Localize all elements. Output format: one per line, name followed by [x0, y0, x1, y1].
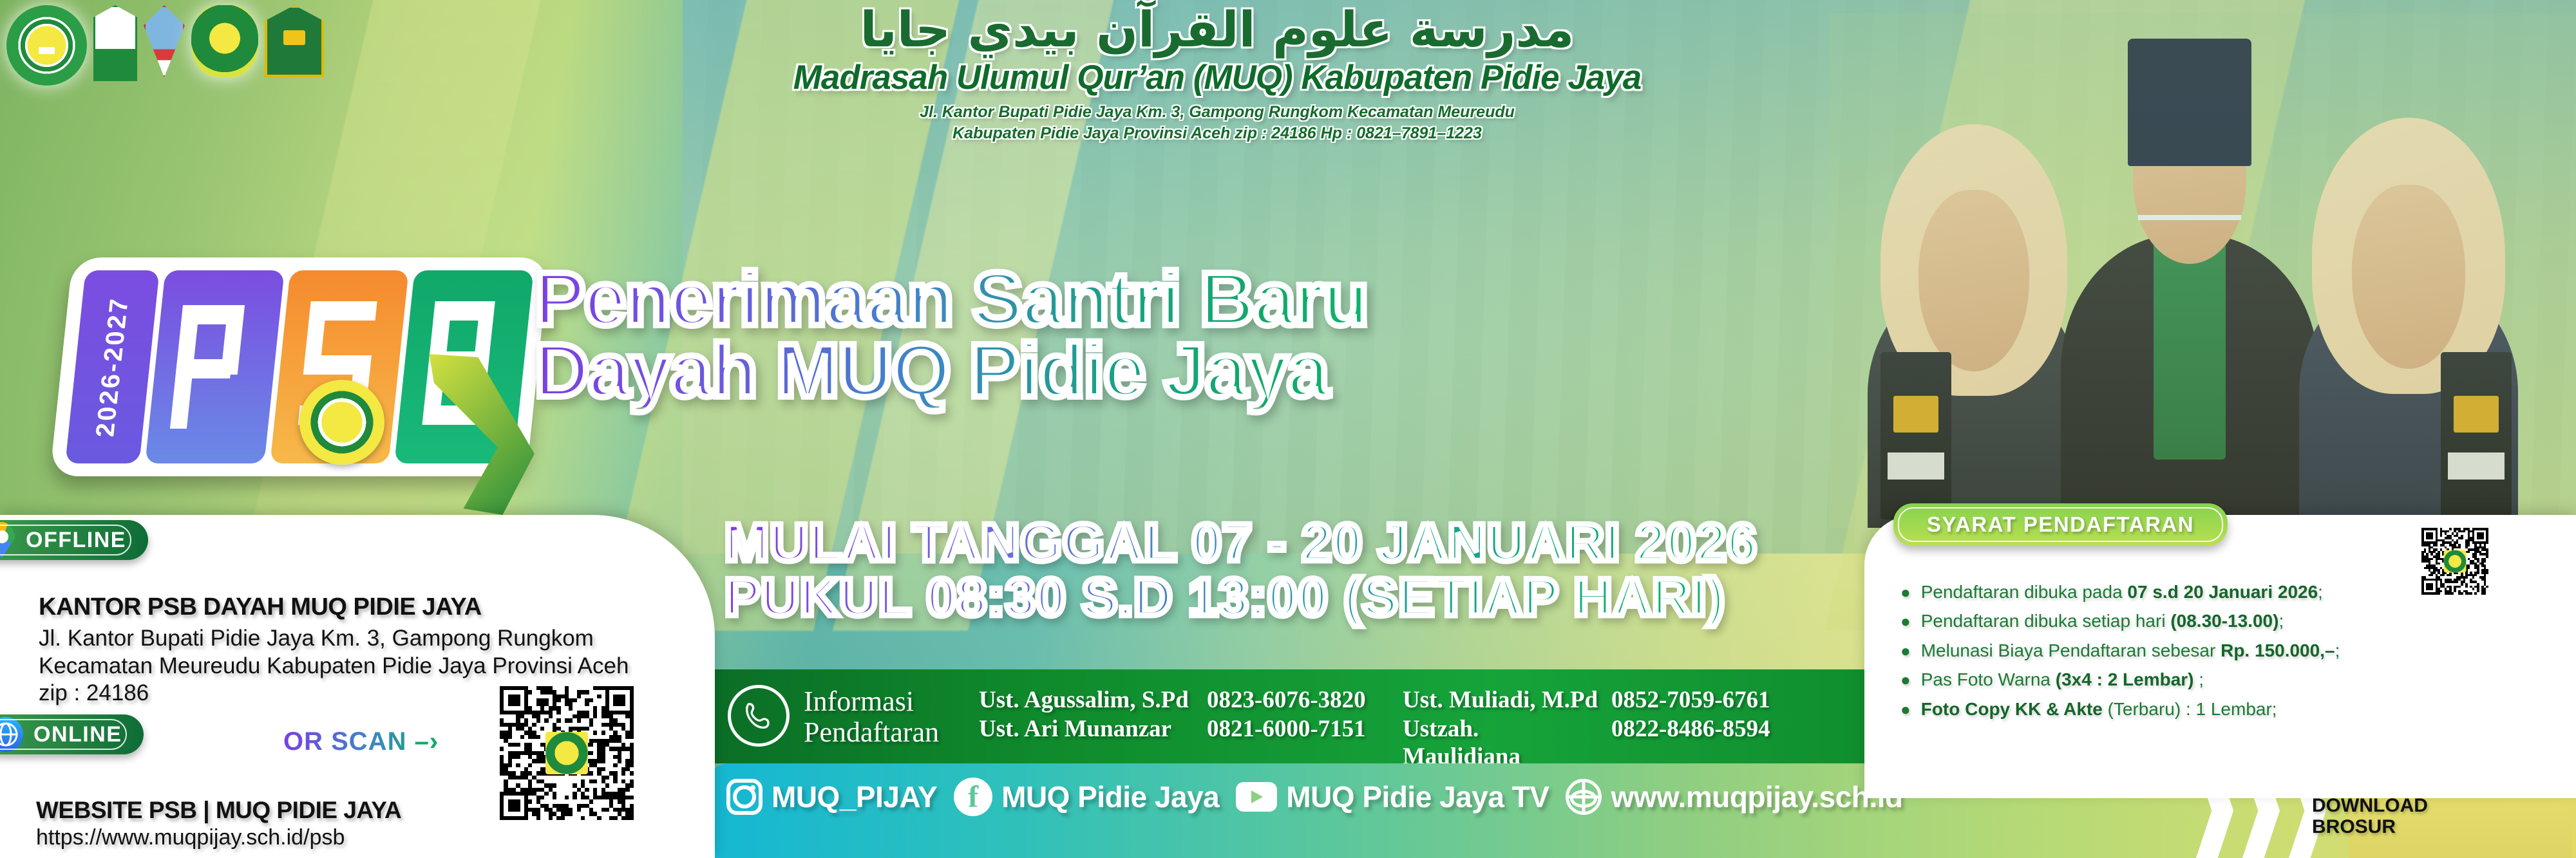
contact-phone[interactable]: 0821-6000-7151: [1207, 715, 1394, 770]
facebook-icon: f: [954, 778, 992, 816]
psb-badge: 2026-2027: [61, 257, 538, 476]
requirement-item: ●Melunasi Biaya Pendaftaran sebesar Rp. …: [1900, 640, 2563, 661]
globe-icon: [1566, 779, 1602, 815]
contact-name: Ust. Agussalim, S.Pd: [979, 686, 1198, 714]
psb-year-label: 2026-2027: [91, 297, 135, 437]
contact-title-line-1: Informasi: [804, 686, 939, 717]
requirement-item: ●Pas Foto Warna (3x4 : 2 Lembar) ;: [1900, 669, 2563, 690]
qr-center-logo-icon: [545, 732, 588, 774]
madrasah-ulumul-quran-seal-icon: [6, 5, 87, 86]
pidie-jaya-regency-emblem-icon: [144, 5, 185, 77]
brochure-qr-code[interactable]: [2418, 524, 2492, 599]
psb-registration-qr-code[interactable]: [496, 682, 638, 824]
date-line-2: PUKUL 08:30 S.D 13:00 (SETIAP HARI): [724, 570, 1757, 624]
student-center: [2061, 39, 2318, 528]
website-title: WEBSITE PSB | MUQ PIDIE JAYA: [36, 797, 401, 824]
contact-phone[interactable]: 0822-8486-8594: [1611, 715, 1804, 770]
contact-name: Ust. Ari Munanzar: [979, 715, 1198, 770]
trophy-right: [2441, 352, 2512, 519]
arrow-right-icon: –›: [415, 727, 439, 756]
main-title: Penerimaan Santri Baru Dayah MUQ Pidie J…: [535, 264, 1368, 407]
bullet-icon: ●: [1900, 701, 1911, 718]
instagram-icon: [726, 779, 762, 815]
header-block: مدرسة علوم القرآن بيدي جايا Madrasah Ulu…: [631, 4, 1803, 144]
bullet-icon: ●: [1900, 584, 1911, 601]
registration-location-card: OFFLINE KANTOR PSB DAYAH MUQ PIDIE JAYA …: [0, 515, 715, 858]
online-badge[interactable]: ONLINE: [0, 714, 144, 754]
or-scan-label: OR SCAN –›: [283, 727, 439, 756]
main-title-line-1: Penerimaan Santri Baru: [535, 264, 1368, 335]
header-address-line-2: Kabupaten Pidie Jaya Provinsi Aceh zip :…: [631, 123, 1803, 144]
contact-name: Ust. Muliadi, M.Pd: [1403, 686, 1602, 714]
facebook-label: MUQ Pidie Jaya: [1001, 779, 1219, 814]
requirement-text: Pendaftaran dibuka pada 07 s.d 20 Januar…: [1921, 582, 2323, 602]
google-maps-pin-icon: [0, 522, 15, 558]
youtube-label: MUQ Pidie Jaya TV: [1286, 779, 1549, 814]
psb-banner: PANCACITA مدرسة علوم القرآن بيدي جايا Ma…: [0, 0, 2576, 858]
psb-letter-p: [145, 270, 284, 463]
social-item-facebook[interactable]: f MUQ Pidie Jaya: [954, 778, 1219, 816]
or-scan-text: OR SCAN: [283, 727, 406, 756]
online-label: ONLINE: [33, 722, 122, 747]
pancacita-aceh-emblem-icon: PANCACITA: [93, 5, 137, 81]
bullet-icon: ●: [1900, 613, 1911, 630]
arabic-title: مدرسة علوم القرآن بيدي جايا: [631, 4, 1803, 55]
contact-title-line-2: Pendaftaran: [804, 717, 939, 748]
smp-ulumul-quran-emblem-icon: [191, 5, 258, 77]
requirement-item: ●Foto Copy KK & Akte (Terbaru) : 1 Lemba…: [1900, 699, 2563, 720]
requirement-text: Melunasi Biaya Pendaftaran sebesar Rp. 1…: [1921, 640, 2340, 661]
website-label: www.muqpijay.sch.id: [1611, 779, 1902, 814]
offline-badge[interactable]: OFFLINE: [0, 520, 148, 560]
youtube-icon: [1236, 782, 1277, 812]
social-item-instagram[interactable]: MUQ_PIJAY: [726, 779, 937, 815]
requirements-heading: SYARAT PENDAFTARAN: [1927, 512, 2194, 536]
date-block: MULAI TANGGAL 07 - 20 JANUARI 2026 PUKUL…: [724, 515, 1757, 625]
kemenag-ikhlas-beramal-emblem-icon: [265, 5, 324, 77]
globe-icon: [0, 717, 23, 752]
contact-title: Informasi Pendaftaran: [804, 686, 939, 747]
contact-name: Ustzah. Maulidiana: [1403, 715, 1602, 770]
requirement-text: Pas Foto Warna (3x4 : 2 Lembar) ;: [1921, 669, 2204, 690]
office-title: KANTOR PSB DAYAH MUQ PIDIE JAYA: [39, 593, 657, 621]
website-url[interactable]: https://www.muqpijay.sch.id/psb: [36, 825, 401, 850]
requirement-text: Foto Copy KK & Akte (Terbaru) : 1 Lembar…: [1921, 699, 2277, 720]
institution-name: Madrasah Ulumul Qur’an (MUQ) Kabupaten P…: [631, 58, 1803, 97]
requirement-text: Pendaftaran dibuka setiap hari (08.30-13…: [1921, 611, 2284, 631]
bullet-icon: ●: [1900, 642, 1911, 659]
contact-phone[interactable]: 0823-6076-3820: [1207, 686, 1394, 714]
instagram-label: MUQ_PIJAY: [772, 779, 937, 814]
social-item-youtube[interactable]: MUQ Pidie Jaya TV: [1236, 779, 1549, 814]
phone-icon: [728, 685, 790, 747]
requirements-list: ●Pendaftaran dibuka pada 07 s.d 20 Janua…: [1900, 582, 2563, 728]
social-links: MUQ_PIJAY f MUQ Pidie Jaya MUQ Pidie Jay…: [726, 778, 1903, 816]
institution-logos: PANCACITA: [6, 5, 324, 86]
requirement-item: ●Pendaftaran dibuka setiap hari (08.30-1…: [1900, 611, 2563, 631]
offline-label: OFFLINE: [26, 528, 126, 553]
students-photo: [1829, 13, 2576, 528]
main-title-line-2: Dayah MUQ Pidie Jaya: [535, 335, 1368, 407]
social-item-website[interactable]: www.muqpijay.sch.id: [1566, 779, 1902, 815]
date-line-1: MULAI TANGGAL 07 - 20 JANUARI 2026: [724, 515, 1757, 570]
qr-center-logo-icon: [2444, 550, 2467, 573]
requirements-panel: SYARAT PENDAFTARAN ●Pendaftaran dibuka p…: [1864, 515, 2576, 798]
student-left: [1868, 116, 2080, 528]
contact-phone[interactable]: 0852-7059-6761: [1611, 686, 1804, 714]
header-address-line-1: Jl. Kantor Bupati Pidie Jaya Km. 3, Gamp…: [631, 102, 1803, 123]
requirements-heading-badge: SYARAT PENDAFTARAN: [1893, 503, 2228, 546]
bullet-icon: ●: [1900, 671, 1911, 688]
website-info: WEBSITE PSB | MUQ PIDIE JAYA https://www…: [36, 797, 401, 850]
student-right: [2299, 109, 2518, 528]
trophy-left: [1880, 352, 1951, 519]
psb-seal-icon: [299, 380, 384, 465]
